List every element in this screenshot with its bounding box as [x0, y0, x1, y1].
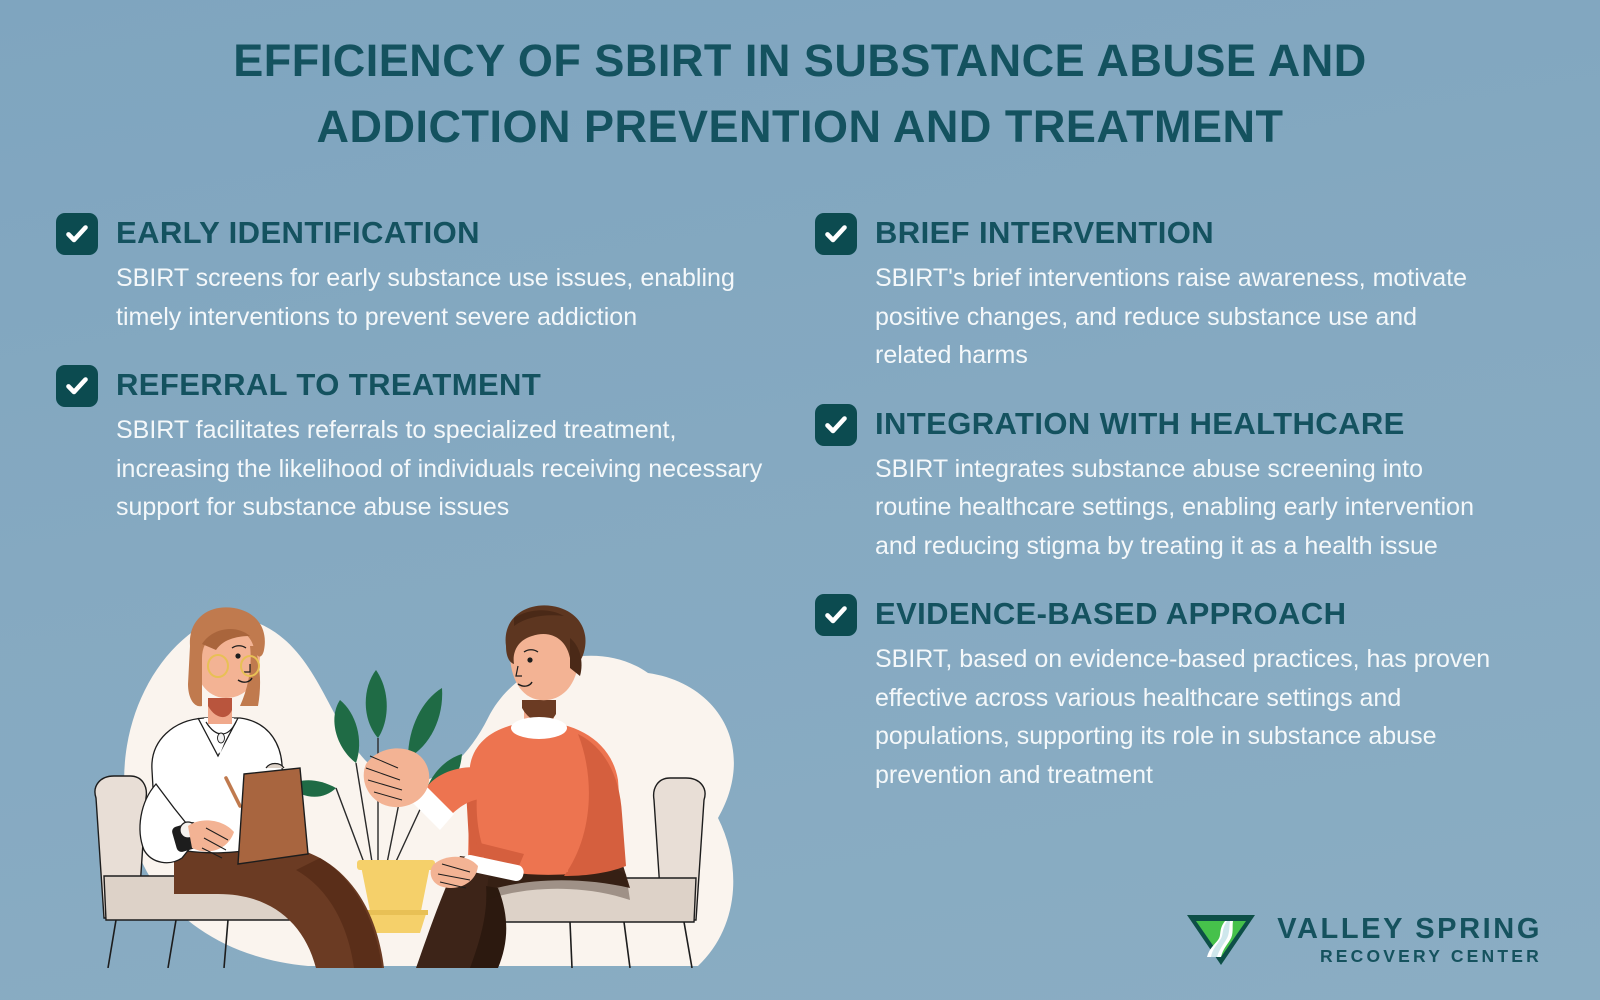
- feature-title: BRIEF INTERVENTION: [875, 212, 1214, 254]
- valley-spring-v-mark-icon: [1185, 913, 1257, 967]
- feature-body: SBIRT integrates substance abuse screeni…: [875, 450, 1495, 566]
- check-icon: [815, 213, 857, 255]
- logo-primary-text: VALLEY SPRING: [1277, 913, 1542, 945]
- left-column: EARLY IDENTIFICATION SBIRT screens for e…: [56, 212, 796, 555]
- logo-secondary-text: RECOVERY CENTER: [1277, 945, 1542, 968]
- feature-item-referral-to-treatment: REFERRAL TO TREATMENT SBIRT facilitates …: [56, 364, 796, 527]
- feature-heading-row: EARLY IDENTIFICATION: [56, 212, 796, 255]
- feature-body: SBIRT, based on evidence-based practices…: [875, 640, 1495, 794]
- feature-item-evidence-based-approach: EVIDENCE-BASED APPROACH SBIRT, based on …: [815, 593, 1515, 794]
- check-icon: [56, 365, 98, 407]
- feature-title: EARLY IDENTIFICATION: [116, 212, 480, 254]
- check-icon: [56, 213, 98, 255]
- feature-title: INTEGRATION WITH HEALTHCARE: [875, 403, 1405, 445]
- feature-heading-row: EVIDENCE-BASED APPROACH: [815, 593, 1515, 636]
- feature-title: REFERRAL TO TREATMENT: [116, 364, 541, 406]
- check-icon: [815, 404, 857, 446]
- feature-body: SBIRT's brief interventions raise awaren…: [875, 259, 1495, 375]
- valley-spring-logo: VALLEY SPRING RECOVERY CENTER: [1185, 913, 1542, 968]
- feature-heading-row: BRIEF INTERVENTION: [815, 212, 1515, 255]
- feature-heading-row: REFERRAL TO TREATMENT: [56, 364, 796, 407]
- page-title: EFFICIENCY OF SBIRT IN SUBSTANCE ABUSE A…: [180, 28, 1420, 160]
- feature-item-early-identification: EARLY IDENTIFICATION SBIRT screens for e…: [56, 212, 796, 336]
- feature-item-integration-with-healthcare: INTEGRATION WITH HEALTHCARE SBIRT integr…: [815, 403, 1515, 566]
- logo-wordmark: VALLEY SPRING RECOVERY CENTER: [1277, 913, 1542, 968]
- check-icon: [815, 594, 857, 636]
- feature-title: EVIDENCE-BASED APPROACH: [875, 593, 1346, 635]
- feature-heading-row: INTEGRATION WITH HEALTHCARE: [815, 403, 1515, 446]
- infographic-root: EFFICIENCY OF SBIRT IN SUBSTANCE ABUSE A…: [0, 0, 1600, 1000]
- feature-body: SBIRT facilitates referrals to specializ…: [116, 411, 796, 527]
- right-column: BRIEF INTERVENTION SBIRT's brief interve…: [815, 212, 1515, 822]
- therapy-session-illustration: [78, 588, 768, 968]
- feature-item-brief-intervention: BRIEF INTERVENTION SBIRT's brief interve…: [815, 212, 1515, 375]
- feature-body: SBIRT screens for early substance use is…: [116, 259, 756, 336]
